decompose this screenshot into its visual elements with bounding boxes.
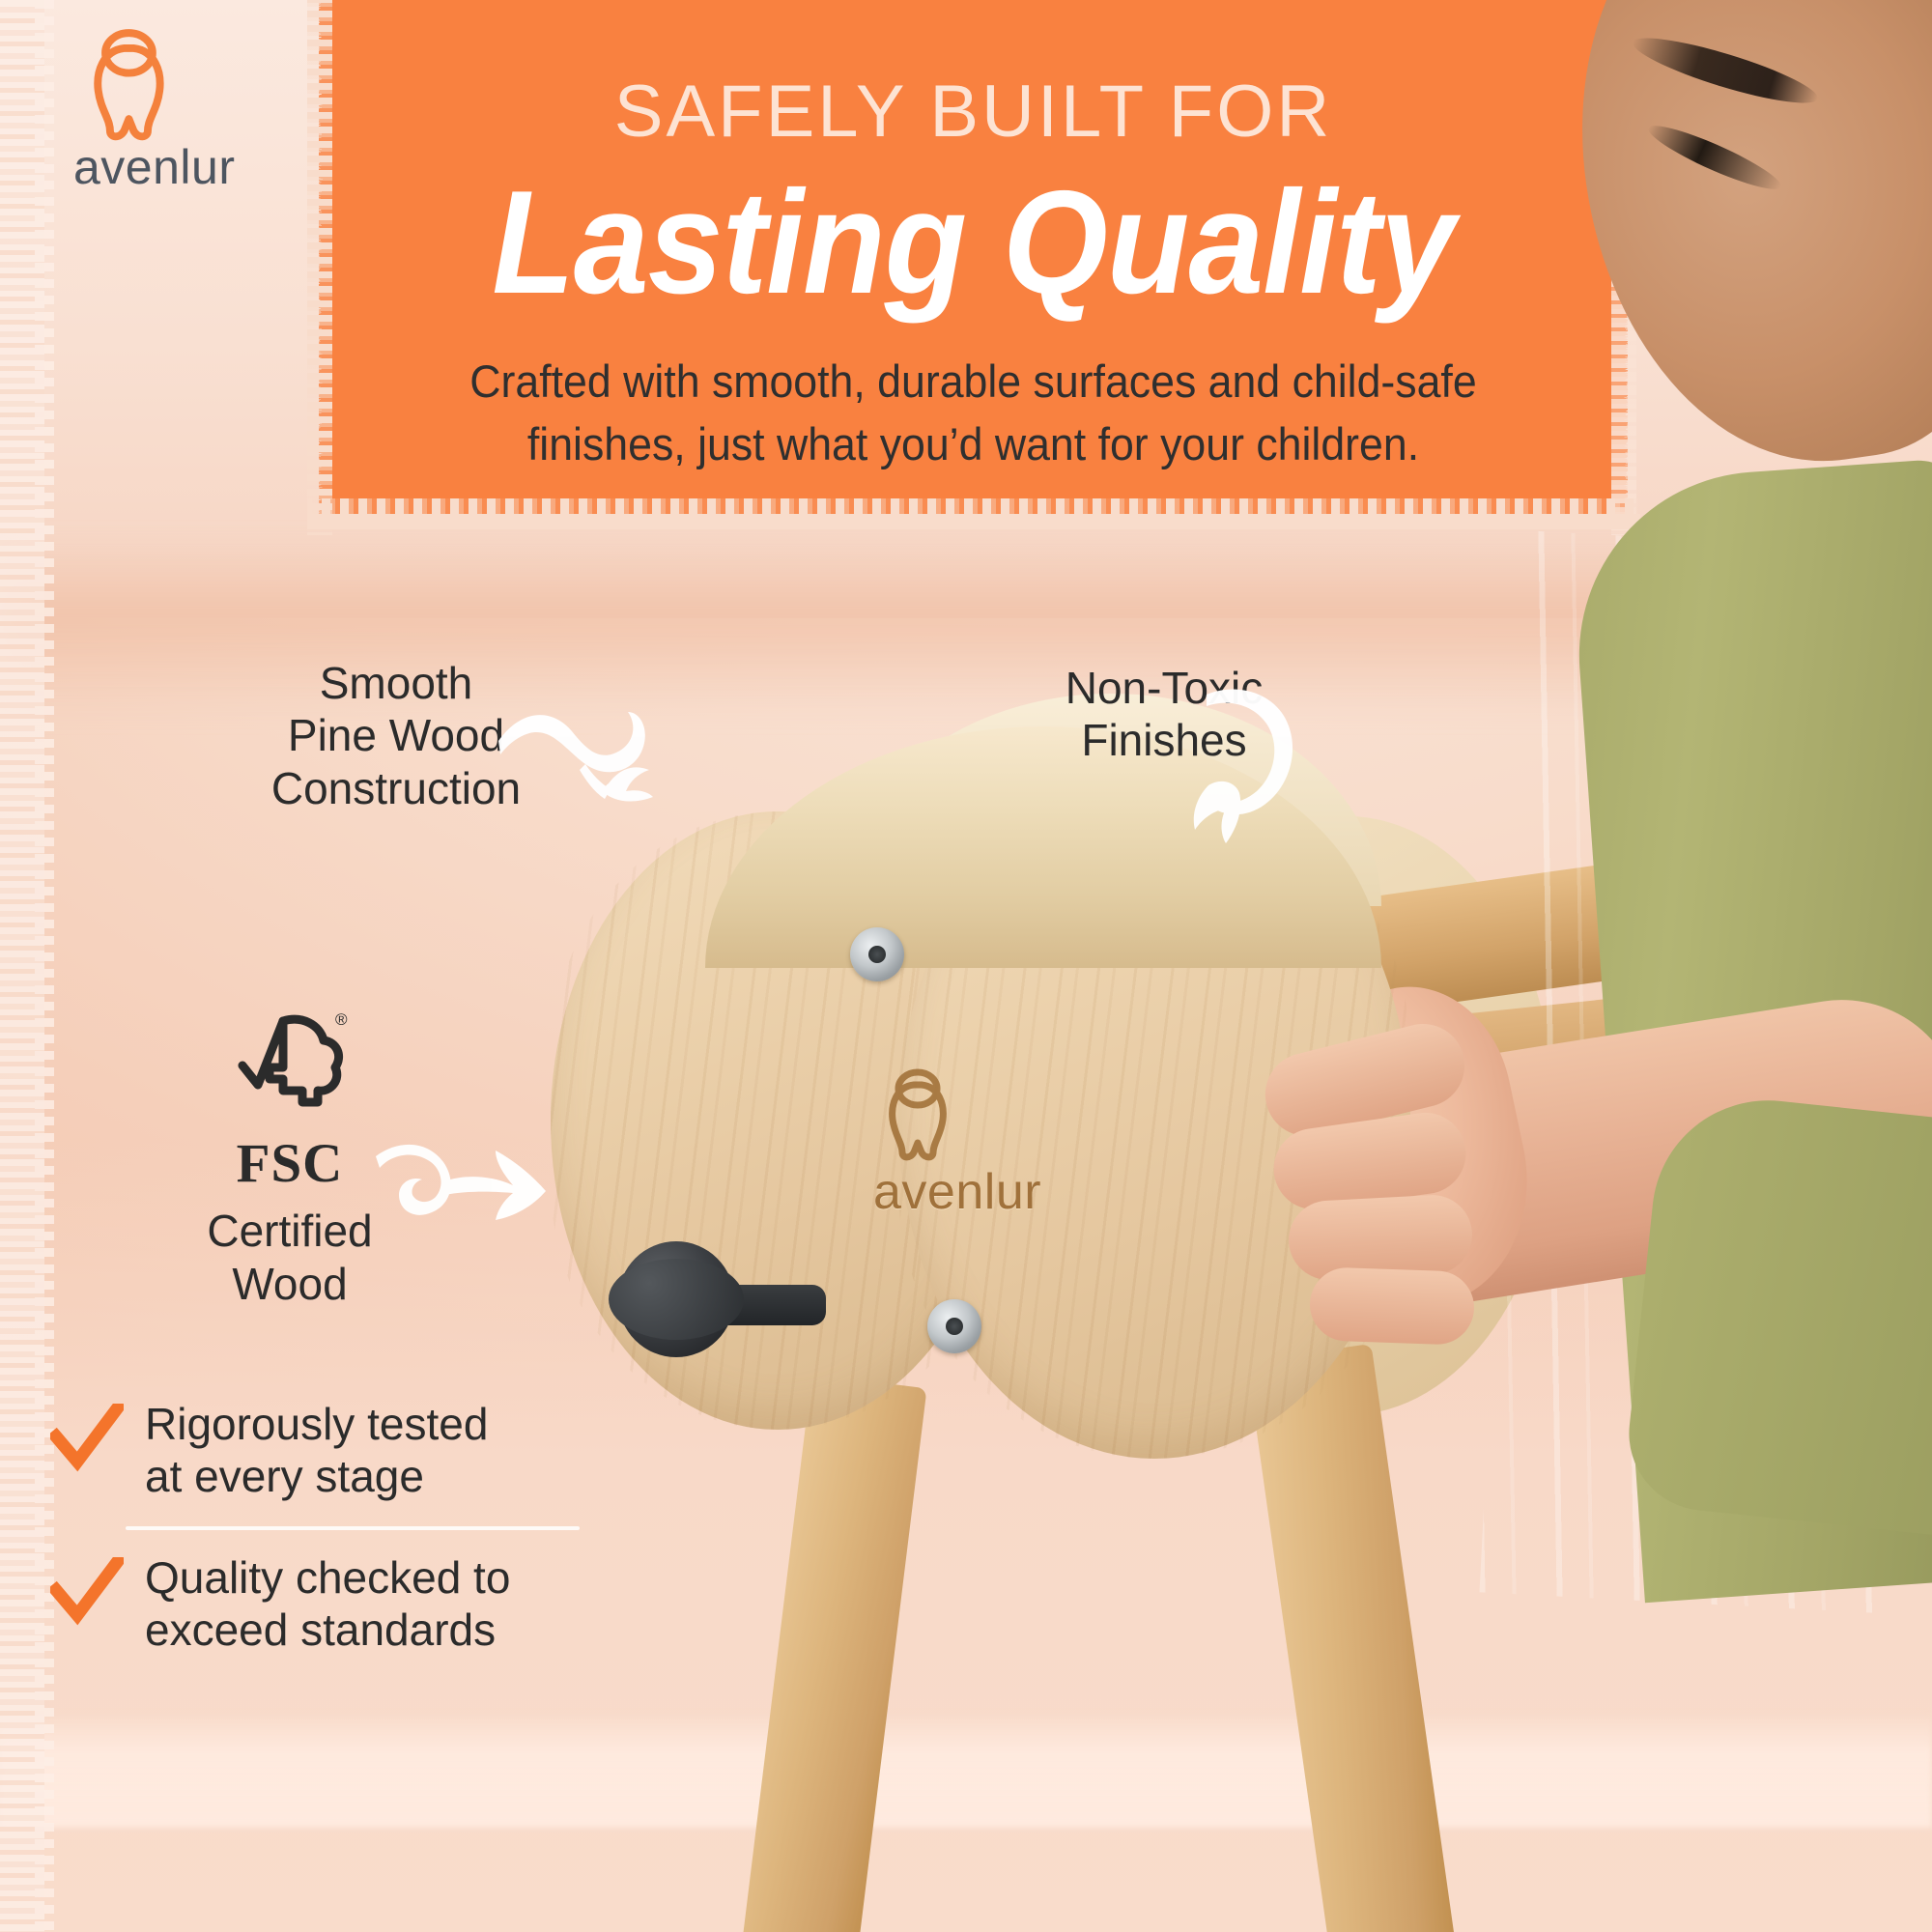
metal-screw-lower xyxy=(927,1299,981,1353)
registered-mark: ® xyxy=(335,1010,348,1029)
fsc-tree-checkmark-icon: ® xyxy=(227,1009,353,1125)
checklist-item: Quality checked to exceed standards xyxy=(50,1542,611,1670)
callout-line: Finishes xyxy=(976,714,1352,766)
checklist-item-text: Quality checked to exceed standards xyxy=(145,1551,510,1657)
checklist-line: at every stage xyxy=(145,1450,488,1502)
fsc-certification-badge: ® FSC Certified Wood xyxy=(145,1009,435,1311)
quality-checklist: Rigorously tested at every stage Quality… xyxy=(50,1388,611,1669)
callout-non-toxic-finishes: Non-Toxic Finishes xyxy=(976,662,1352,767)
adjustment-knob xyxy=(618,1241,734,1357)
engraved-brand-logo: avenlur xyxy=(869,1067,1041,1221)
orange-checkmark-icon xyxy=(50,1404,124,1473)
brand-logo: avenlur xyxy=(70,27,236,195)
banner-text-block: SAFELY BUILT FOR Lasting Quality Crafted… xyxy=(319,0,1628,476)
left-ragged-paper-edge xyxy=(0,0,44,1932)
banner-headline: Lasting Quality xyxy=(371,168,1576,318)
checklist-item: Rigorously tested at every stage xyxy=(50,1388,611,1517)
checklist-line: exceed standards xyxy=(145,1604,510,1656)
fsc-caption: Certified Wood xyxy=(145,1205,435,1311)
checklist-divider xyxy=(126,1526,580,1530)
checklist-item-text: Rigorously tested at every stage xyxy=(145,1398,488,1503)
brand-wordmark: avenlur xyxy=(73,139,236,195)
banner-kicker: SAFELY BUILT FOR xyxy=(319,75,1628,149)
callout-line: Smooth xyxy=(193,657,599,709)
child-finger xyxy=(1309,1266,1476,1346)
checklist-line: Rigorously tested xyxy=(145,1398,488,1450)
banner-subline-line2: finishes, just what you’d want for your … xyxy=(527,418,1419,469)
checklist-line: Quality checked to xyxy=(145,1551,510,1604)
child-sleeve xyxy=(1622,1089,1932,1538)
metal-screw-upper xyxy=(850,927,904,981)
callout-line: Construction xyxy=(193,762,599,814)
engraved-wordmark: avenlur xyxy=(873,1163,1041,1221)
orange-checkmark-icon xyxy=(50,1557,124,1627)
callout-line: Non-Toxic xyxy=(976,662,1352,714)
infographic-canvas: avenlur SAFELY BUILT FOR Lasting Quality… xyxy=(0,0,1932,1932)
callout-line: Pine Wood xyxy=(193,709,599,761)
fsc-acronym: FSC xyxy=(145,1132,435,1195)
background-torn-paper-strip xyxy=(0,1712,1932,1828)
banner-subline-line1: Crafted with smooth, durable surfaces an… xyxy=(469,355,1476,407)
avenlur-figure-logo-icon xyxy=(70,27,184,145)
fsc-caption-line: Wood xyxy=(145,1258,435,1311)
avenlur-figure-logo-engraved-icon xyxy=(869,1067,962,1164)
callout-smooth-pine-wood: Smooth Pine Wood Construction xyxy=(193,657,599,814)
banner-subline: Crafted with smooth, durable surfaces an… xyxy=(352,351,1595,476)
fsc-caption-line: Certified xyxy=(145,1205,435,1258)
